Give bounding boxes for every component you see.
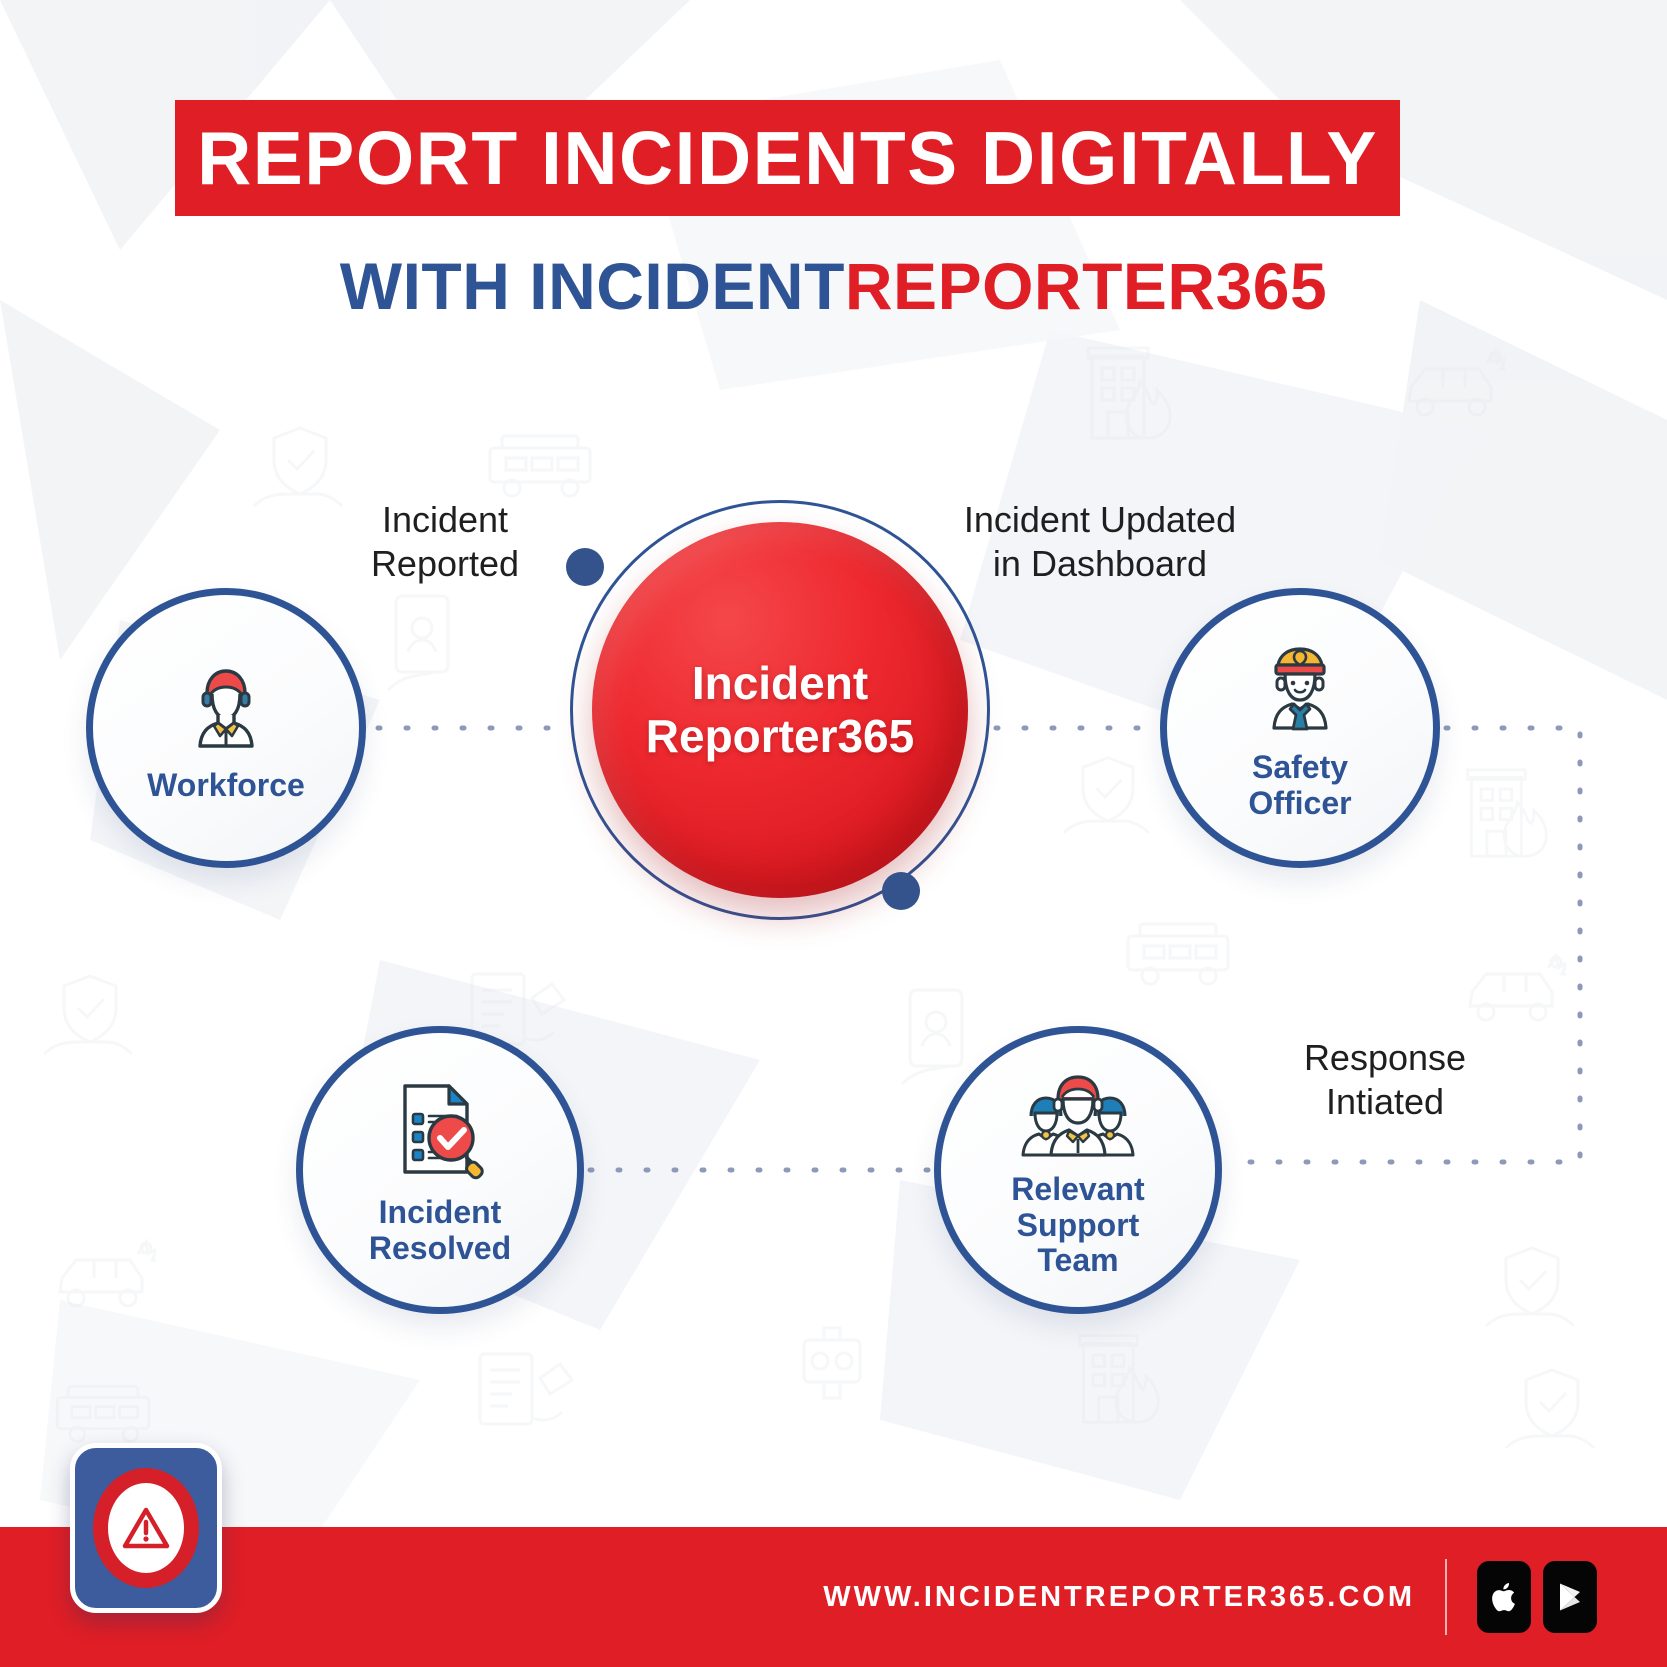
central-hub[interactable]: Incident Reporter365 (570, 500, 990, 920)
car-crash-watermark-icon (1395, 345, 1505, 423)
footer-bar: WWW.INCIDENTREPORTER365.COM (0, 1527, 1667, 1667)
subtitle-with-text: WITH INCIDENT (340, 249, 845, 323)
store-buttons (1477, 1561, 1597, 1633)
hub-label-line2: Reporter365 (646, 710, 914, 763)
ambulance-watermark-icon (480, 430, 600, 502)
car-crash-watermark-icon-2 (1456, 950, 1566, 1028)
hub-label: Incident Reporter365 (646, 657, 914, 764)
car-crash-watermark-icon-3 (46, 1236, 156, 1314)
node-workforce[interactable]: Workforce (86, 588, 366, 868)
node-support-team-label-text: Relevant Support Team (1011, 1171, 1144, 1279)
shield-hand-watermark-icon-3 (38, 968, 142, 1068)
phone-report-watermark-icon (382, 590, 468, 696)
banner-title-bar: REPORT INCIDENTS DIGITALLY (175, 100, 1400, 216)
safety-officer-icon (1248, 635, 1352, 744)
hub-label-line1: Incident (646, 657, 914, 710)
subtitle-brand-text: REPORTER365 (845, 249, 1327, 323)
apple-logo-icon[interactable] (1477, 1561, 1531, 1633)
node-incident-resolved-label-text: Incident Resolved (369, 1194, 511, 1266)
footer-divider (1445, 1559, 1447, 1635)
building-fire-watermark-icon-3 (1070, 1326, 1166, 1432)
node-safety-officer[interactable]: Safety Officer (1160, 588, 1440, 868)
warning-triangle-app-logo[interactable] (70, 1443, 222, 1613)
report-writing-watermark-icon-2 (470, 1348, 576, 1444)
hub-connector-dot-top-left (566, 548, 604, 586)
worker-person-icon (174, 653, 278, 762)
shield-hand-watermark-icon-2 (1058, 750, 1158, 846)
node-workforce-label: Workforce (147, 768, 305, 804)
document-check-magnifier-icon (385, 1074, 495, 1189)
ambulance-watermark-icon-3 (48, 1380, 158, 1448)
flow-label-incident-reported: Incident Reported (330, 498, 560, 586)
logo-red-ring (93, 1468, 199, 1588)
hub-connector-dot-bottom-right (882, 872, 920, 910)
node-incident-resolved[interactable]: Incident Resolved (296, 1026, 584, 1314)
ambulance-watermark-icon-2 (1118, 918, 1238, 990)
node-safety-officer-label: Safety Officer (1248, 750, 1351, 822)
alarm-watermark-icon-2 (790, 1318, 874, 1410)
node-support-team[interactable]: Relevant Support Team (934, 1026, 1222, 1314)
page-title: REPORT INCIDENTS DIGITALLY (197, 115, 1378, 201)
node-safety-officer-label-text: Safety Officer (1248, 749, 1351, 821)
logo-white-inner (108, 1483, 184, 1573)
shield-hand-watermark-icon-4 (1480, 1240, 1584, 1340)
flow-label-response-initiated: Response Intiated (1270, 1036, 1500, 1124)
infographic-canvas: REPORT INCIDENTS DIGITALLY WITH INCIDENT… (0, 0, 1667, 1667)
google-play-icon[interactable] (1543, 1561, 1597, 1633)
building-fire-watermark-icon-2 (1458, 760, 1554, 866)
hub-sphere: Incident Reporter365 (592, 522, 968, 898)
footer-website-url[interactable]: WWW.INCIDENTREPORTER365.COM (823, 1581, 1415, 1614)
flow-label-incident-updated: Incident Updated in Dashboard (930, 498, 1270, 586)
building-fire-watermark-icon (1078, 338, 1178, 448)
node-incident-resolved-label: Incident Resolved (369, 1195, 511, 1267)
shield-hand-watermark-icon-5 (1500, 1362, 1604, 1462)
support-team-group-icon (1019, 1061, 1137, 1166)
page-subtitle: WITH INCIDENTREPORTER365 (0, 248, 1667, 324)
node-support-team-label: Relevant Support Team (1011, 1172, 1144, 1279)
